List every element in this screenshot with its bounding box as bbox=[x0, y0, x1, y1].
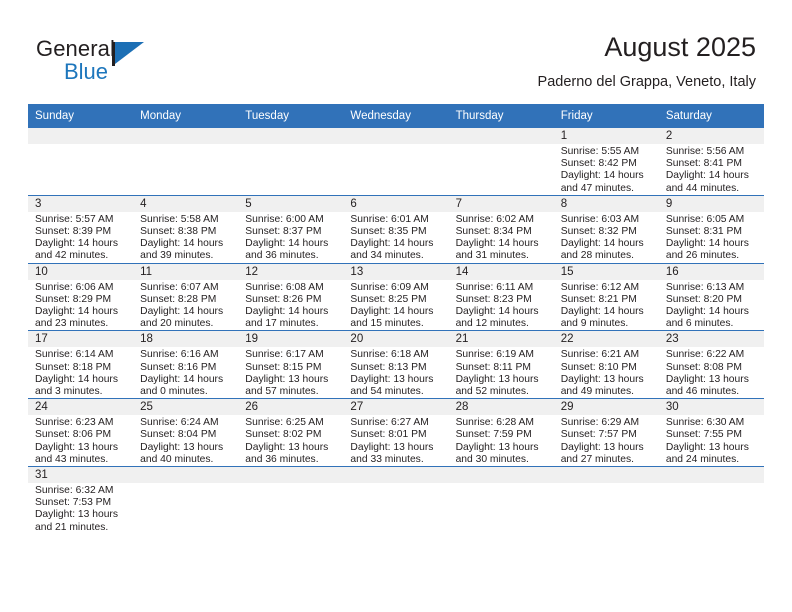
daylight-duration-line2: and 33 minutes. bbox=[350, 454, 442, 466]
calendar-cell-empty bbox=[133, 128, 238, 195]
calendar-cell-empty bbox=[554, 467, 659, 544]
sunrise-time: Sunrise: 6:16 AM bbox=[140, 349, 232, 361]
day-cell bbox=[133, 128, 238, 195]
daylight-duration-line2: and 6 minutes. bbox=[666, 318, 758, 330]
calendar-cell-day[interactable]: 29Sunrise: 6:29 AMSunset: 7:57 PMDayligh… bbox=[554, 399, 659, 467]
day-number bbox=[449, 467, 554, 483]
daylight-duration-line1: Daylight: 13 hours bbox=[456, 442, 548, 454]
daylight-duration-line2: and 0 minutes. bbox=[140, 386, 232, 398]
day-details: Sunrise: 6:09 AMSunset: 8:25 PMDaylight:… bbox=[343, 280, 448, 331]
sunrise-time: Sunrise: 6:12 AM bbox=[561, 282, 653, 294]
calendar-cell-day[interactable]: 28Sunrise: 6:28 AMSunset: 7:59 PMDayligh… bbox=[449, 399, 554, 467]
daylight-duration-line2: and 24 minutes. bbox=[666, 454, 758, 466]
day-cell: 3Sunrise: 5:57 AMSunset: 8:39 PMDaylight… bbox=[28, 196, 133, 263]
sunrise-time: Sunrise: 6:05 AM bbox=[666, 214, 758, 226]
day-cell bbox=[343, 128, 448, 195]
calendar-cell-empty bbox=[133, 467, 238, 544]
weekday-header-wednesday: Wednesday bbox=[343, 104, 448, 128]
sunrise-time: Sunrise: 6:08 AM bbox=[245, 282, 337, 294]
day-cell: 23Sunrise: 6:22 AMSunset: 8:08 PMDayligh… bbox=[659, 331, 764, 398]
day-cell: 27Sunrise: 6:27 AMSunset: 8:01 PMDayligh… bbox=[343, 399, 448, 466]
day-cell: 26Sunrise: 6:25 AMSunset: 8:02 PMDayligh… bbox=[238, 399, 343, 466]
day-cell: 30Sunrise: 6:30 AMSunset: 7:55 PMDayligh… bbox=[659, 399, 764, 466]
daylight-duration-line2: and 46 minutes. bbox=[666, 386, 758, 398]
calendar-cell-day[interactable]: 14Sunrise: 6:11 AMSunset: 8:23 PMDayligh… bbox=[449, 263, 554, 331]
sunset-time: Sunset: 8:20 PM bbox=[666, 294, 758, 306]
day-number: 26 bbox=[238, 399, 343, 415]
calendar-cell-day[interactable]: 21Sunrise: 6:19 AMSunset: 8:11 PMDayligh… bbox=[449, 331, 554, 399]
day-number: 30 bbox=[659, 399, 764, 415]
daylight-duration-line2: and 57 minutes. bbox=[245, 386, 337, 398]
calendar-cell-day[interactable]: 13Sunrise: 6:09 AMSunset: 8:25 PMDayligh… bbox=[343, 263, 448, 331]
daylight-duration-line1: Daylight: 14 hours bbox=[666, 306, 758, 318]
sunset-time: Sunset: 8:18 PM bbox=[35, 362, 127, 374]
day-cell: 8Sunrise: 6:03 AMSunset: 8:32 PMDaylight… bbox=[554, 196, 659, 263]
day-details: Sunrise: 6:07 AMSunset: 8:28 PMDaylight:… bbox=[133, 280, 238, 331]
day-cell bbox=[133, 467, 238, 543]
daylight-duration-line1: Daylight: 14 hours bbox=[350, 306, 442, 318]
daylight-duration-line1: Daylight: 14 hours bbox=[561, 306, 653, 318]
daylight-duration-line1: Daylight: 14 hours bbox=[456, 238, 548, 250]
daylight-duration-line2: and 30 minutes. bbox=[456, 454, 548, 466]
day-number: 29 bbox=[554, 399, 659, 415]
day-number bbox=[554, 467, 659, 483]
day-details: Sunrise: 6:13 AMSunset: 8:20 PMDaylight:… bbox=[659, 280, 764, 331]
day-cell: 21Sunrise: 6:19 AMSunset: 8:11 PMDayligh… bbox=[449, 331, 554, 398]
day-cell: 19Sunrise: 6:17 AMSunset: 8:15 PMDayligh… bbox=[238, 331, 343, 398]
day-number bbox=[659, 467, 764, 483]
sunset-time: Sunset: 7:57 PM bbox=[561, 429, 653, 441]
sunrise-time: Sunrise: 6:18 AM bbox=[350, 349, 442, 361]
daylight-duration-line1: Daylight: 13 hours bbox=[245, 442, 337, 454]
calendar-cell-day[interactable]: 11Sunrise: 6:07 AMSunset: 8:28 PMDayligh… bbox=[133, 263, 238, 331]
calendar-week-row: 10Sunrise: 6:06 AMSunset: 8:29 PMDayligh… bbox=[28, 263, 764, 331]
day-number: 20 bbox=[343, 331, 448, 347]
day-details: Sunrise: 6:02 AMSunset: 8:34 PMDaylight:… bbox=[449, 212, 554, 263]
daylight-duration-line1: Daylight: 14 hours bbox=[35, 238, 127, 250]
sunset-time: Sunset: 8:15 PM bbox=[245, 362, 337, 374]
day-number: 8 bbox=[554, 196, 659, 212]
day-cell: 2Sunrise: 5:56 AMSunset: 8:41 PMDaylight… bbox=[659, 128, 764, 195]
day-cell: 24Sunrise: 6:23 AMSunset: 8:06 PMDayligh… bbox=[28, 399, 133, 466]
sunrise-time: Sunrise: 6:22 AM bbox=[666, 349, 758, 361]
sunset-time: Sunset: 8:32 PM bbox=[561, 226, 653, 238]
day-cell: 11Sunrise: 6:07 AMSunset: 8:28 PMDayligh… bbox=[133, 264, 238, 331]
calendar-cell-empty bbox=[659, 467, 764, 544]
day-details: Sunrise: 6:22 AMSunset: 8:08 PMDaylight:… bbox=[659, 347, 764, 398]
day-cell bbox=[238, 467, 343, 543]
day-number: 28 bbox=[449, 399, 554, 415]
flag-triangle bbox=[115, 42, 144, 64]
daylight-duration-line2: and 21 minutes. bbox=[35, 522, 127, 534]
daylight-duration-line2: and 9 minutes. bbox=[561, 318, 653, 330]
calendar-cell-day[interactable]: 7Sunrise: 6:02 AMSunset: 8:34 PMDaylight… bbox=[449, 195, 554, 263]
sunrise-time: Sunrise: 6:23 AM bbox=[35, 417, 127, 429]
daylight-duration-line2: and 36 minutes. bbox=[245, 454, 337, 466]
day-cell: 7Sunrise: 6:02 AMSunset: 8:34 PMDaylight… bbox=[449, 196, 554, 263]
day-details: Sunrise: 6:01 AMSunset: 8:35 PMDaylight:… bbox=[343, 212, 448, 263]
calendar-cell-empty bbox=[449, 128, 554, 195]
page-header: General Blue August 2025 Paderno del Gra… bbox=[0, 0, 792, 100]
sunrise-time: Sunrise: 6:21 AM bbox=[561, 349, 653, 361]
day-number: 27 bbox=[343, 399, 448, 415]
calendar-cell-day[interactable]: 25Sunrise: 6:24 AMSunset: 8:04 PMDayligh… bbox=[133, 399, 238, 467]
sunrise-time: Sunrise: 6:24 AM bbox=[140, 417, 232, 429]
day-number: 4 bbox=[133, 196, 238, 212]
sunset-time: Sunset: 8:13 PM bbox=[350, 362, 442, 374]
day-number: 11 bbox=[133, 264, 238, 280]
sunrise-time: Sunrise: 5:56 AM bbox=[666, 146, 758, 158]
day-number: 23 bbox=[659, 331, 764, 347]
sunset-time: Sunset: 8:04 PM bbox=[140, 429, 232, 441]
daylight-duration-line2: and 40 minutes. bbox=[140, 454, 232, 466]
sunrise-time: Sunrise: 6:01 AM bbox=[350, 214, 442, 226]
daylight-duration-line1: Daylight: 13 hours bbox=[35, 509, 127, 521]
sunset-time: Sunset: 8:38 PM bbox=[140, 226, 232, 238]
calendar-cell-day[interactable]: 20Sunrise: 6:18 AMSunset: 8:13 PMDayligh… bbox=[343, 331, 448, 399]
day-number bbox=[238, 128, 343, 144]
day-cell: 5Sunrise: 6:00 AMSunset: 8:37 PMDaylight… bbox=[238, 196, 343, 263]
sunrise-time: Sunrise: 6:28 AM bbox=[456, 417, 548, 429]
weekday-header-friday: Friday bbox=[554, 104, 659, 128]
daylight-duration-line1: Daylight: 14 hours bbox=[456, 306, 548, 318]
daylight-duration-line1: Daylight: 14 hours bbox=[666, 238, 758, 250]
day-cell bbox=[238, 128, 343, 195]
day-number: 31 bbox=[28, 467, 133, 483]
daylight-duration-line1: Daylight: 14 hours bbox=[245, 238, 337, 250]
day-cell: 10Sunrise: 6:06 AMSunset: 8:29 PMDayligh… bbox=[28, 264, 133, 331]
day-number: 12 bbox=[238, 264, 343, 280]
day-cell: 6Sunrise: 6:01 AMSunset: 8:35 PMDaylight… bbox=[343, 196, 448, 263]
calendar-cell-day[interactable]: 15Sunrise: 6:12 AMSunset: 8:21 PMDayligh… bbox=[554, 263, 659, 331]
sunrise-time: Sunrise: 6:17 AM bbox=[245, 349, 337, 361]
sunrise-time: Sunrise: 5:58 AM bbox=[140, 214, 232, 226]
day-number bbox=[133, 467, 238, 483]
sunrise-time: Sunrise: 6:27 AM bbox=[350, 417, 442, 429]
daylight-duration-line2: and 28 minutes. bbox=[561, 250, 653, 262]
daylight-duration-line1: Daylight: 14 hours bbox=[140, 306, 232, 318]
calendar-cell-day[interactable]: 19Sunrise: 6:17 AMSunset: 8:15 PMDayligh… bbox=[238, 331, 343, 399]
calendar-cell-day[interactable]: 9Sunrise: 6:05 AMSunset: 8:31 PMDaylight… bbox=[659, 195, 764, 263]
calendar-week-row: 31Sunrise: 6:32 AMSunset: 7:53 PMDayligh… bbox=[28, 467, 764, 544]
daylight-duration-line1: Daylight: 13 hours bbox=[666, 374, 758, 386]
day-cell: 28Sunrise: 6:28 AMSunset: 7:59 PMDayligh… bbox=[449, 399, 554, 466]
day-number: 22 bbox=[554, 331, 659, 347]
day-details: Sunrise: 6:16 AMSunset: 8:16 PMDaylight:… bbox=[133, 347, 238, 398]
day-details: Sunrise: 5:56 AMSunset: 8:41 PMDaylight:… bbox=[659, 144, 764, 195]
day-number bbox=[449, 128, 554, 144]
daylight-duration-line1: Daylight: 14 hours bbox=[561, 170, 653, 182]
day-cell bbox=[554, 467, 659, 543]
day-cell: 15Sunrise: 6:12 AMSunset: 8:21 PMDayligh… bbox=[554, 264, 659, 331]
daylight-duration-line1: Daylight: 14 hours bbox=[35, 306, 127, 318]
day-details: Sunrise: 6:28 AMSunset: 7:59 PMDaylight:… bbox=[449, 415, 554, 466]
sunrise-time: Sunrise: 6:11 AM bbox=[456, 282, 548, 294]
calendar-week-row: 3Sunrise: 5:57 AMSunset: 8:39 PMDaylight… bbox=[28, 195, 764, 263]
day-number: 18 bbox=[133, 331, 238, 347]
title-block: August 2025 Paderno del Grappa, Veneto, … bbox=[538, 30, 756, 91]
brand-logo[interactable]: General Blue bbox=[36, 36, 236, 92]
day-cell: 16Sunrise: 6:13 AMSunset: 8:20 PMDayligh… bbox=[659, 264, 764, 331]
day-details: Sunrise: 6:30 AMSunset: 7:55 PMDaylight:… bbox=[659, 415, 764, 466]
daylight-duration-line1: Daylight: 13 hours bbox=[35, 442, 127, 454]
calendar-cell-day[interactable]: 10Sunrise: 6:06 AMSunset: 8:29 PMDayligh… bbox=[28, 263, 133, 331]
daylight-duration-line2: and 36 minutes. bbox=[245, 250, 337, 262]
calendar-cell-day[interactable]: 22Sunrise: 6:21 AMSunset: 8:10 PMDayligh… bbox=[554, 331, 659, 399]
daylight-duration-line2: and 43 minutes. bbox=[35, 454, 127, 466]
day-number: 15 bbox=[554, 264, 659, 280]
sunset-time: Sunset: 8:01 PM bbox=[350, 429, 442, 441]
calendar-cell-day[interactable]: 17Sunrise: 6:14 AMSunset: 8:18 PMDayligh… bbox=[28, 331, 133, 399]
daylight-duration-line2: and 3 minutes. bbox=[35, 386, 127, 398]
day-details: Sunrise: 6:19 AMSunset: 8:11 PMDaylight:… bbox=[449, 347, 554, 398]
daylight-duration-line2: and 52 minutes. bbox=[456, 386, 548, 398]
day-details: Sunrise: 6:24 AMSunset: 8:04 PMDaylight:… bbox=[133, 415, 238, 466]
sunset-time: Sunset: 8:34 PM bbox=[456, 226, 548, 238]
day-details: Sunrise: 6:18 AMSunset: 8:13 PMDaylight:… bbox=[343, 347, 448, 398]
day-number: 17 bbox=[28, 331, 133, 347]
daylight-duration-line2: and 17 minutes. bbox=[245, 318, 337, 330]
calendar-cell-empty bbox=[238, 467, 343, 544]
day-cell: 29Sunrise: 6:29 AMSunset: 7:57 PMDayligh… bbox=[554, 399, 659, 466]
day-number: 24 bbox=[28, 399, 133, 415]
brand-name-blue: Blue bbox=[64, 59, 108, 85]
day-details: Sunrise: 6:08 AMSunset: 8:26 PMDaylight:… bbox=[238, 280, 343, 331]
day-cell bbox=[343, 467, 448, 543]
sunset-time: Sunset: 8:23 PM bbox=[456, 294, 548, 306]
daylight-duration-line2: and 44 minutes. bbox=[666, 183, 758, 195]
day-details: Sunrise: 6:14 AMSunset: 8:18 PMDaylight:… bbox=[28, 347, 133, 398]
day-number bbox=[343, 467, 448, 483]
daylight-duration-line1: Daylight: 14 hours bbox=[35, 374, 127, 386]
sunset-time: Sunset: 8:10 PM bbox=[561, 362, 653, 374]
daylight-duration-line1: Daylight: 13 hours bbox=[561, 374, 653, 386]
day-details: Sunrise: 6:17 AMSunset: 8:15 PMDaylight:… bbox=[238, 347, 343, 398]
calendar-cell-empty bbox=[343, 128, 448, 195]
day-details: Sunrise: 6:23 AMSunset: 8:06 PMDaylight:… bbox=[28, 415, 133, 466]
daylight-duration-line2: and 20 minutes. bbox=[140, 318, 232, 330]
day-number: 1 bbox=[554, 128, 659, 144]
brand-flag-icon bbox=[112, 42, 144, 66]
day-cell: 1Sunrise: 5:55 AMSunset: 8:42 PMDaylight… bbox=[554, 128, 659, 195]
calendar-cell-day[interactable]: 2Sunrise: 5:56 AMSunset: 8:41 PMDaylight… bbox=[659, 128, 764, 195]
calendar-cell-day[interactable]: 30Sunrise: 6:30 AMSunset: 7:55 PMDayligh… bbox=[659, 399, 764, 467]
day-details: Sunrise: 6:25 AMSunset: 8:02 PMDaylight:… bbox=[238, 415, 343, 466]
day-number: 13 bbox=[343, 264, 448, 280]
day-details: Sunrise: 6:29 AMSunset: 7:57 PMDaylight:… bbox=[554, 415, 659, 466]
daylight-duration-line1: Daylight: 14 hours bbox=[561, 238, 653, 250]
calendar-cell-day[interactable]: 8Sunrise: 6:03 AMSunset: 8:32 PMDaylight… bbox=[554, 195, 659, 263]
day-number: 16 bbox=[659, 264, 764, 280]
daylight-duration-line2: and 27 minutes. bbox=[561, 454, 653, 466]
daylight-duration-line1: Daylight: 14 hours bbox=[350, 238, 442, 250]
calendar-week-row: 1Sunrise: 5:55 AMSunset: 8:42 PMDaylight… bbox=[28, 128, 764, 195]
daylight-duration-line1: Daylight: 13 hours bbox=[350, 442, 442, 454]
sunset-time: Sunset: 8:26 PM bbox=[245, 294, 337, 306]
daylight-duration-line2: and 31 minutes. bbox=[456, 250, 548, 262]
sunset-time: Sunset: 8:35 PM bbox=[350, 226, 442, 238]
weekday-header-thursday: Thursday bbox=[449, 104, 554, 128]
sunrise-time: Sunrise: 6:25 AM bbox=[245, 417, 337, 429]
day-cell: 22Sunrise: 6:21 AMSunset: 8:10 PMDayligh… bbox=[554, 331, 659, 398]
calendar-cell-day[interactable]: 26Sunrise: 6:25 AMSunset: 8:02 PMDayligh… bbox=[238, 399, 343, 467]
daylight-duration-line2: and 42 minutes. bbox=[35, 250, 127, 262]
daylight-duration-line2: and 23 minutes. bbox=[35, 318, 127, 330]
day-details: Sunrise: 6:21 AMSunset: 8:10 PMDaylight:… bbox=[554, 347, 659, 398]
daylight-duration-line1: Daylight: 13 hours bbox=[666, 442, 758, 454]
day-number bbox=[238, 467, 343, 483]
sunset-time: Sunset: 8:42 PM bbox=[561, 158, 653, 170]
day-details: Sunrise: 6:06 AMSunset: 8:29 PMDaylight:… bbox=[28, 280, 133, 331]
daylight-duration-line1: Daylight: 13 hours bbox=[140, 442, 232, 454]
day-details: Sunrise: 6:00 AMSunset: 8:37 PMDaylight:… bbox=[238, 212, 343, 263]
calendar-cell-empty bbox=[238, 128, 343, 195]
location-subtitle: Paderno del Grappa, Veneto, Italy bbox=[538, 73, 756, 91]
day-cell: 17Sunrise: 6:14 AMSunset: 8:18 PMDayligh… bbox=[28, 331, 133, 398]
sunset-time: Sunset: 8:06 PM bbox=[35, 429, 127, 441]
sunrise-time: Sunrise: 6:09 AM bbox=[350, 282, 442, 294]
daylight-duration-line1: Daylight: 13 hours bbox=[456, 374, 548, 386]
sunrise-time: Sunrise: 6:13 AM bbox=[666, 282, 758, 294]
day-cell: 31Sunrise: 6:32 AMSunset: 7:53 PMDayligh… bbox=[28, 467, 133, 543]
calendar-cell-empty bbox=[449, 467, 554, 544]
day-details: Sunrise: 6:32 AMSunset: 7:53 PMDaylight:… bbox=[28, 483, 133, 534]
daylight-duration-line1: Daylight: 13 hours bbox=[245, 374, 337, 386]
day-number bbox=[133, 128, 238, 144]
daylight-duration-line2: and 15 minutes. bbox=[350, 318, 442, 330]
day-cell: 14Sunrise: 6:11 AMSunset: 8:23 PMDayligh… bbox=[449, 264, 554, 331]
day-cell: 4Sunrise: 5:58 AMSunset: 8:38 PMDaylight… bbox=[133, 196, 238, 263]
daylight-duration-line2: and 34 minutes. bbox=[350, 250, 442, 262]
day-number: 2 bbox=[659, 128, 764, 144]
day-cell bbox=[449, 467, 554, 543]
day-cell: 9Sunrise: 6:05 AMSunset: 8:31 PMDaylight… bbox=[659, 196, 764, 263]
calendar-cell-empty bbox=[343, 467, 448, 544]
calendar-cell-day[interactable]: 4Sunrise: 5:58 AMSunset: 8:38 PMDaylight… bbox=[133, 195, 238, 263]
day-cell: 18Sunrise: 6:16 AMSunset: 8:16 PMDayligh… bbox=[133, 331, 238, 398]
daylight-duration-line2: and 39 minutes. bbox=[140, 250, 232, 262]
calendar-cell-day[interactable]: 31Sunrise: 6:32 AMSunset: 7:53 PMDayligh… bbox=[28, 467, 133, 544]
weekday-header-sunday: Sunday bbox=[28, 104, 133, 128]
day-details: Sunrise: 5:57 AMSunset: 8:39 PMDaylight:… bbox=[28, 212, 133, 263]
calendar-page: General Blue August 2025 Paderno del Gra… bbox=[0, 0, 792, 612]
sunset-time: Sunset: 8:25 PM bbox=[350, 294, 442, 306]
day-number bbox=[343, 128, 448, 144]
sunrise-time: Sunrise: 6:00 AM bbox=[245, 214, 337, 226]
calendar-cell-day[interactable]: 16Sunrise: 6:13 AMSunset: 8:20 PMDayligh… bbox=[659, 263, 764, 331]
sunset-time: Sunset: 8:28 PM bbox=[140, 294, 232, 306]
daylight-duration-line1: Daylight: 13 hours bbox=[561, 442, 653, 454]
day-cell: 20Sunrise: 6:18 AMSunset: 8:13 PMDayligh… bbox=[343, 331, 448, 398]
sunset-time: Sunset: 8:11 PM bbox=[456, 362, 548, 374]
day-number: 5 bbox=[238, 196, 343, 212]
sunset-time: Sunset: 8:29 PM bbox=[35, 294, 127, 306]
sunset-time: Sunset: 8:21 PM bbox=[561, 294, 653, 306]
sunrise-time: Sunrise: 6:29 AM bbox=[561, 417, 653, 429]
day-details: Sunrise: 5:55 AMSunset: 8:42 PMDaylight:… bbox=[554, 144, 659, 195]
calendar-cell-day[interactable]: 12Sunrise: 6:08 AMSunset: 8:26 PMDayligh… bbox=[238, 263, 343, 331]
daylight-duration-line2: and 54 minutes. bbox=[350, 386, 442, 398]
day-details: Sunrise: 6:11 AMSunset: 8:23 PMDaylight:… bbox=[449, 280, 554, 331]
sunset-time: Sunset: 7:59 PM bbox=[456, 429, 548, 441]
day-cell bbox=[659, 467, 764, 543]
sunrise-time: Sunrise: 6:07 AM bbox=[140, 282, 232, 294]
calendar-body: 1Sunrise: 5:55 AMSunset: 8:42 PMDaylight… bbox=[28, 128, 764, 543]
day-details: Sunrise: 6:12 AMSunset: 8:21 PMDaylight:… bbox=[554, 280, 659, 331]
day-number: 19 bbox=[238, 331, 343, 347]
sunrise-time: Sunrise: 6:14 AM bbox=[35, 349, 127, 361]
daylight-duration-line1: Daylight: 14 hours bbox=[245, 306, 337, 318]
calendar-cell-day[interactable]: 6Sunrise: 6:01 AMSunset: 8:35 PMDaylight… bbox=[343, 195, 448, 263]
sunrise-time: Sunrise: 6:03 AM bbox=[561, 214, 653, 226]
sunset-time: Sunset: 8:08 PM bbox=[666, 362, 758, 374]
calendar-cell-day[interactable]: 27Sunrise: 6:27 AMSunset: 8:01 PMDayligh… bbox=[343, 399, 448, 467]
day-cell: 25Sunrise: 6:24 AMSunset: 8:04 PMDayligh… bbox=[133, 399, 238, 466]
calendar-cell-day[interactable]: 3Sunrise: 5:57 AMSunset: 8:39 PMDaylight… bbox=[28, 195, 133, 263]
calendar-cell-empty bbox=[28, 128, 133, 195]
calendar-cell-day[interactable]: 23Sunrise: 6:22 AMSunset: 8:08 PMDayligh… bbox=[659, 331, 764, 399]
sunrise-time: Sunrise: 6:06 AM bbox=[35, 282, 127, 294]
calendar-cell-day[interactable]: 24Sunrise: 6:23 AMSunset: 8:06 PMDayligh… bbox=[28, 399, 133, 467]
sunset-time: Sunset: 8:02 PM bbox=[245, 429, 337, 441]
sunset-time: Sunset: 7:53 PM bbox=[35, 497, 127, 509]
daylight-duration-line2: and 47 minutes. bbox=[561, 183, 653, 195]
day-number: 25 bbox=[133, 399, 238, 415]
day-number bbox=[28, 128, 133, 144]
daylight-duration-line2: and 26 minutes. bbox=[666, 250, 758, 262]
weekday-header-monday: Monday bbox=[133, 104, 238, 128]
day-cell: 13Sunrise: 6:09 AMSunset: 8:25 PMDayligh… bbox=[343, 264, 448, 331]
weekday-header-saturday: Saturday bbox=[659, 104, 764, 128]
sunrise-time: Sunrise: 6:30 AM bbox=[666, 417, 758, 429]
day-details: Sunrise: 6:27 AMSunset: 8:01 PMDaylight:… bbox=[343, 415, 448, 466]
weekday-header-tuesday: Tuesday bbox=[238, 104, 343, 128]
sunset-time: Sunset: 7:55 PM bbox=[666, 429, 758, 441]
sunrise-time: Sunrise: 6:32 AM bbox=[35, 485, 127, 497]
day-number: 3 bbox=[28, 196, 133, 212]
daylight-duration-line1: Daylight: 13 hours bbox=[350, 374, 442, 386]
sunset-time: Sunset: 8:16 PM bbox=[140, 362, 232, 374]
sunset-time: Sunset: 8:39 PM bbox=[35, 226, 127, 238]
day-number: 21 bbox=[449, 331, 554, 347]
calendar-week-row: 24Sunrise: 6:23 AMSunset: 8:06 PMDayligh… bbox=[28, 399, 764, 467]
daylight-duration-line2: and 12 minutes. bbox=[456, 318, 548, 330]
calendar-cell-day[interactable]: 18Sunrise: 6:16 AMSunset: 8:16 PMDayligh… bbox=[133, 331, 238, 399]
calendar-cell-day[interactable]: 1Sunrise: 5:55 AMSunset: 8:42 PMDaylight… bbox=[554, 128, 659, 195]
sunrise-time: Sunrise: 5:57 AM bbox=[35, 214, 127, 226]
day-cell: 12Sunrise: 6:08 AMSunset: 8:26 PMDayligh… bbox=[238, 264, 343, 331]
daylight-duration-line2: and 49 minutes. bbox=[561, 386, 653, 398]
day-number: 10 bbox=[28, 264, 133, 280]
calendar-cell-day[interactable]: 5Sunrise: 6:00 AMSunset: 8:37 PMDaylight… bbox=[238, 195, 343, 263]
page-title: August 2025 bbox=[538, 30, 756, 64]
day-number: 14 bbox=[449, 264, 554, 280]
day-details: Sunrise: 5:58 AMSunset: 8:38 PMDaylight:… bbox=[133, 212, 238, 263]
day-number: 7 bbox=[449, 196, 554, 212]
daylight-duration-line1: Daylight: 14 hours bbox=[140, 374, 232, 386]
sunrise-time: Sunrise: 5:55 AM bbox=[561, 146, 653, 158]
day-details: Sunrise: 6:03 AMSunset: 8:32 PMDaylight:… bbox=[554, 212, 659, 263]
calendar-week-row: 17Sunrise: 6:14 AMSunset: 8:18 PMDayligh… bbox=[28, 331, 764, 399]
day-cell bbox=[28, 128, 133, 195]
sunrise-time: Sunrise: 6:02 AM bbox=[456, 214, 548, 226]
sunset-time: Sunset: 8:31 PM bbox=[666, 226, 758, 238]
sunset-time: Sunset: 8:37 PM bbox=[245, 226, 337, 238]
sunrise-time: Sunrise: 6:19 AM bbox=[456, 349, 548, 361]
daylight-duration-line1: Daylight: 14 hours bbox=[666, 170, 758, 182]
calendar-table: Sunday Monday Tuesday Wednesday Thursday… bbox=[28, 104, 764, 543]
day-number: 9 bbox=[659, 196, 764, 212]
